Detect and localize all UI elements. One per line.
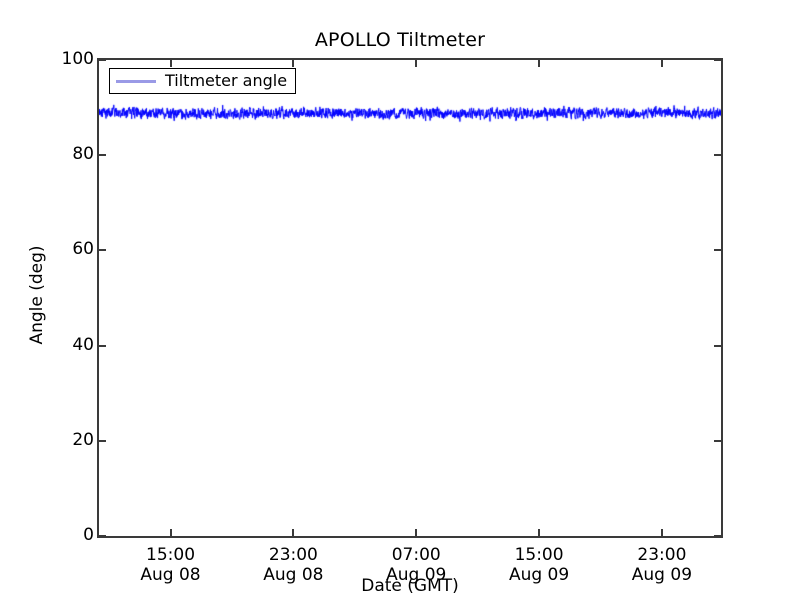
x-tick-label: 23:00Aug 08 [233,545,353,585]
y-tick-mark [714,59,721,61]
x-tick-mark [538,60,540,67]
chart-title: APOLLO Tiltmeter [0,29,800,51]
legend: Tiltmeter angle [109,68,296,94]
x-tick-mark [661,529,663,536]
y-tick-mark [714,440,721,442]
x-tick-mark [538,529,540,536]
x-tick-label: 15:00Aug 08 [111,545,231,585]
y-tick-mark [714,535,721,537]
x-tick-label: 07:00Aug 09 [356,545,476,585]
y-tick-label: 60 [72,241,94,258]
x-tick-mark [415,529,417,536]
y-tick-mark [99,535,106,537]
x-tick-mark [292,60,294,67]
y-axis-label: Angle (deg) [27,195,47,395]
y-tick-mark [714,345,721,347]
plot-area: Tiltmeter angle [97,58,723,538]
y-tick-mark [99,59,106,61]
y-tick-label: 100 [62,51,94,68]
x-tick-mark [292,529,294,536]
y-tick-label: 0 [83,527,94,544]
y-tick-mark [99,440,106,442]
legend-line-sample [116,80,156,83]
chart-figure: APOLLO Tiltmeter Tiltmeter angle Date (G… [0,0,800,600]
x-tick-mark [415,60,417,67]
y-tick-mark [714,154,721,156]
legend-label-tiltmeter-angle: Tiltmeter angle [165,73,287,89]
y-tick-label: 20 [72,432,94,449]
y-tick-label: 80 [72,146,94,163]
y-tick-label: 40 [72,337,94,354]
y-tick-mark [714,249,721,251]
tiltmeter-angle-trace [99,60,721,536]
x-tick-mark [661,60,663,67]
x-tick-label: 15:00Aug 09 [479,545,599,585]
x-tick-mark [170,529,172,536]
y-tick-mark [99,249,106,251]
y-tick-mark [99,345,106,347]
y-tick-mark [99,154,106,156]
x-tick-label: 23:00Aug 09 [602,545,722,585]
x-tick-mark [170,60,172,67]
